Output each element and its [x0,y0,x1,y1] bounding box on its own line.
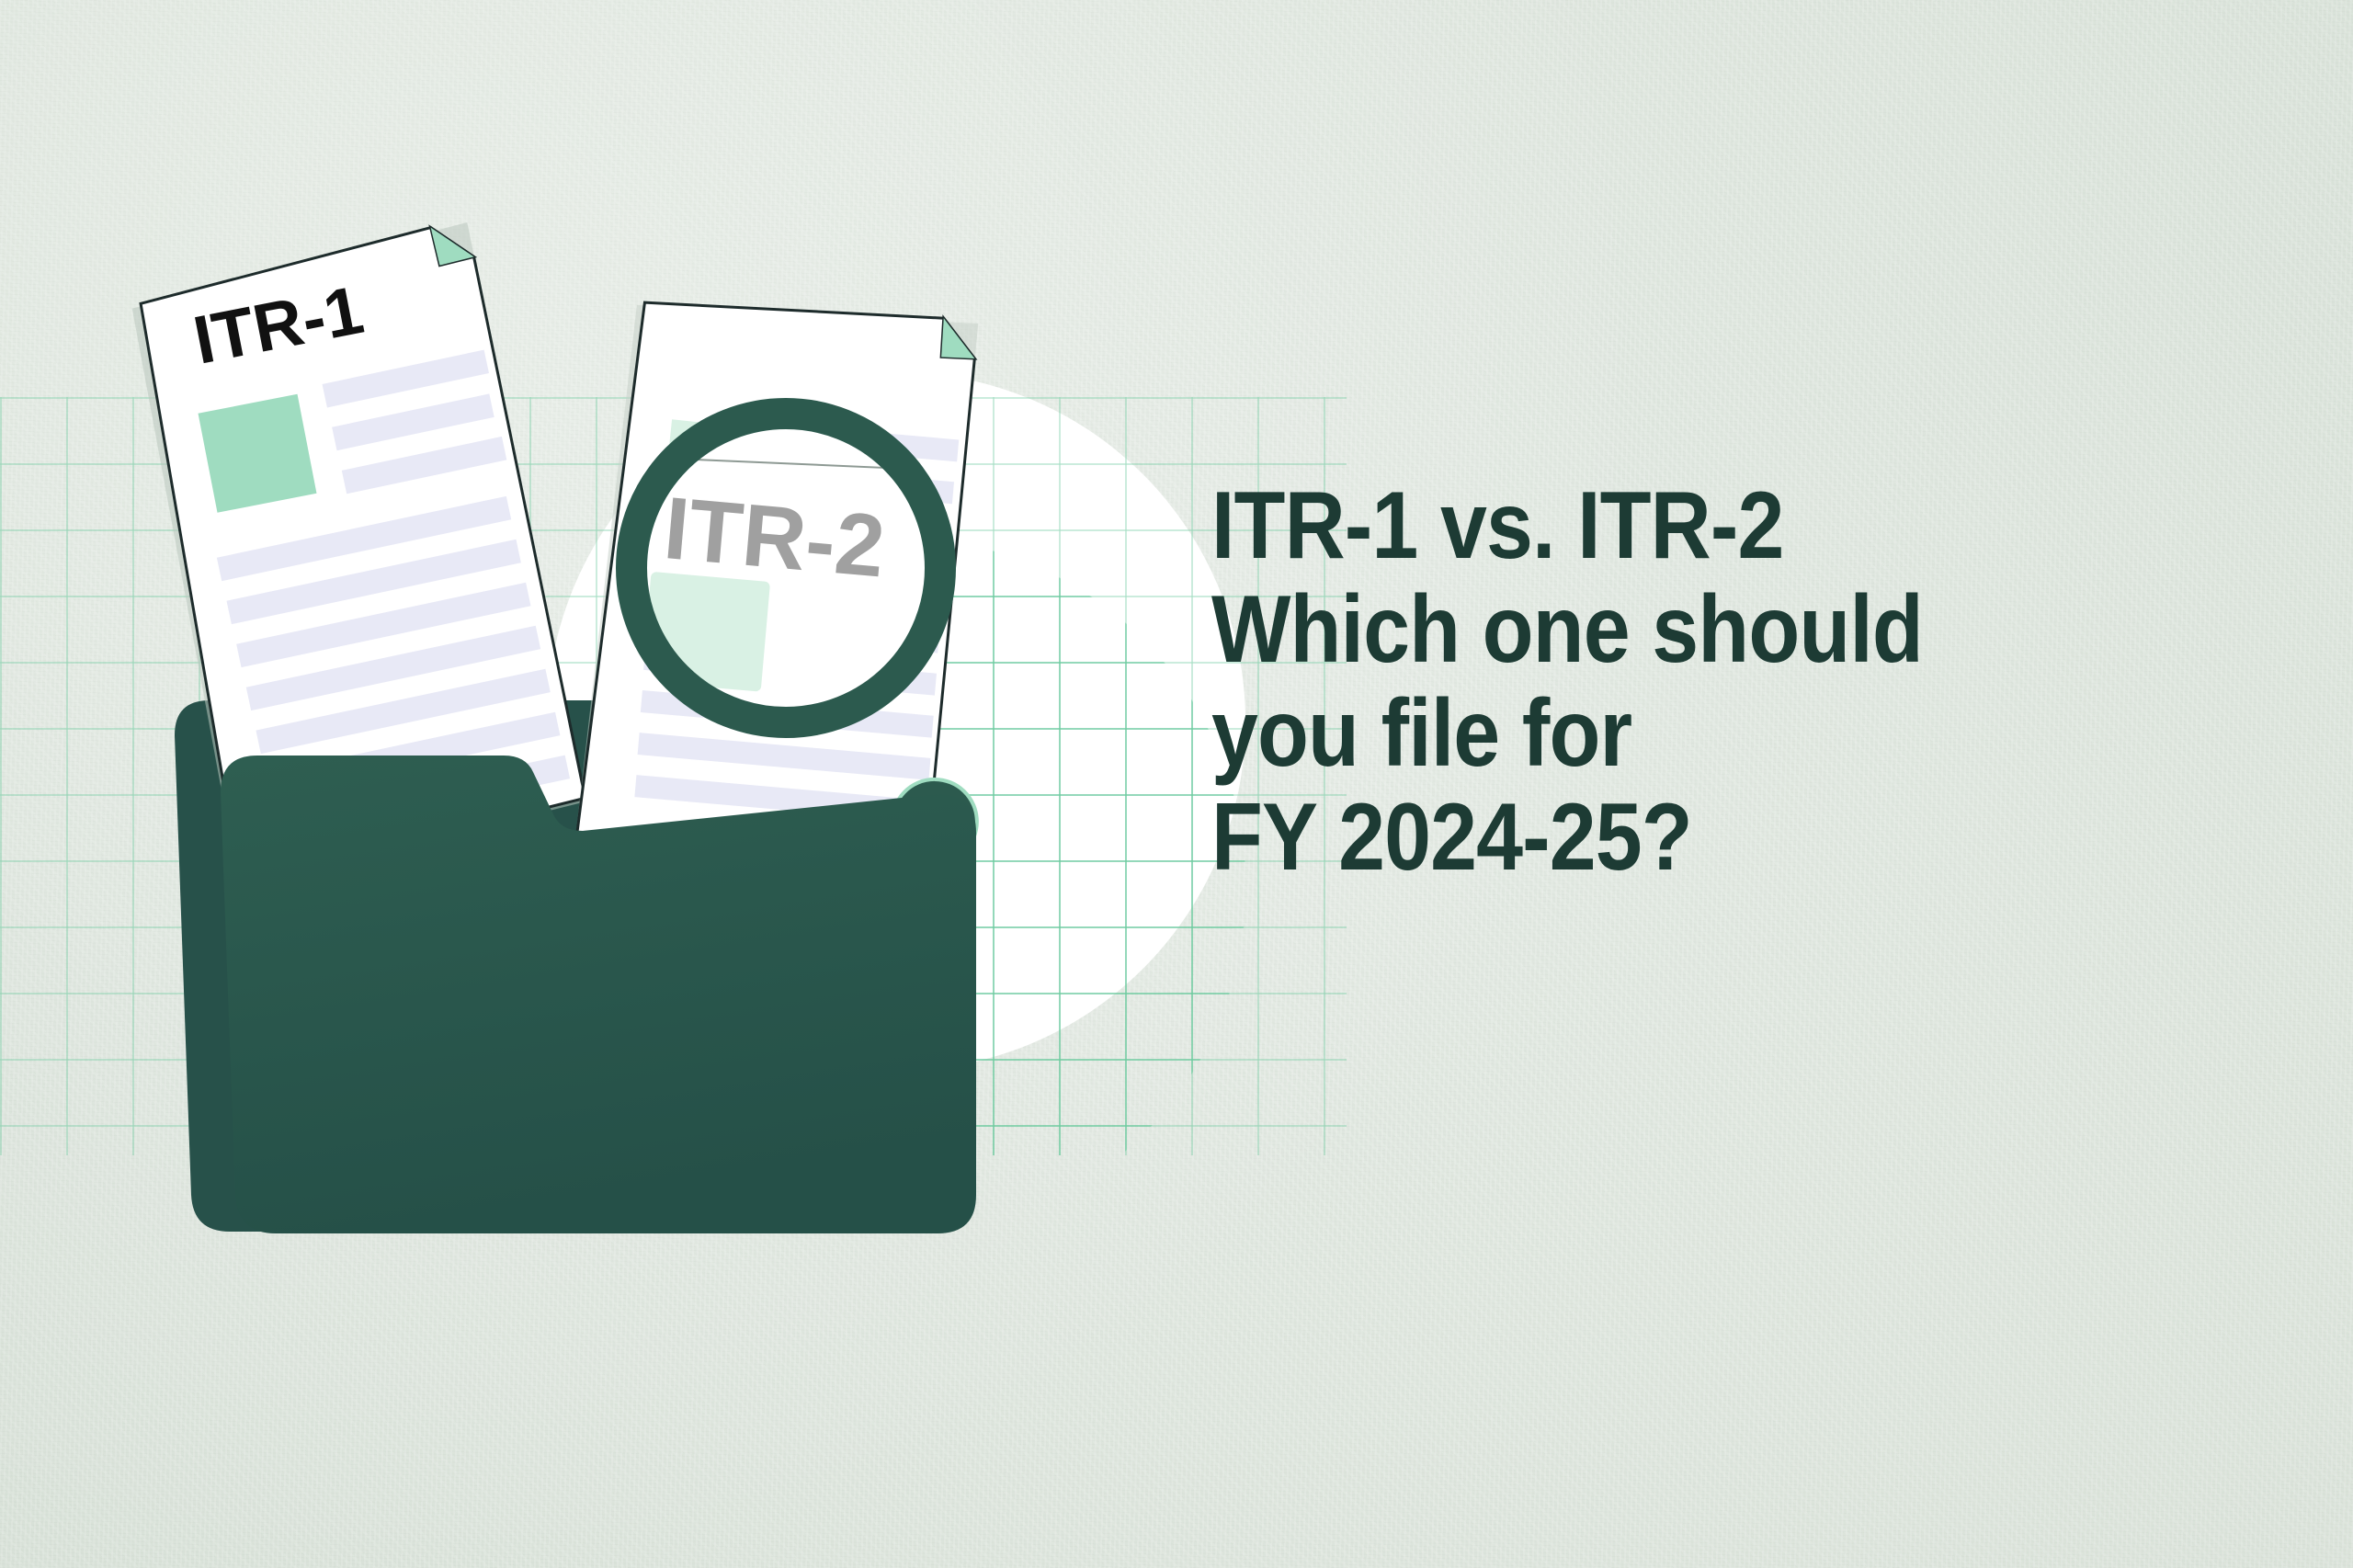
headline: ITR-1 vs. ITR-2 Which one should you fil… [1211,474,2241,890]
illustration: ITR-1 [0,0,1195,1568]
headline-line-2: Which one should [1211,578,2118,682]
headline-line-3: you file for [1211,682,2118,786]
itr2-magnified-label: ITR-2 [660,479,888,597]
headline-line-1: ITR-1 vs. ITR-2 [1211,474,2118,578]
headline-line-4: FY 2024-25? [1211,786,2118,890]
poster-canvas: ITR-1 [0,0,2353,1568]
